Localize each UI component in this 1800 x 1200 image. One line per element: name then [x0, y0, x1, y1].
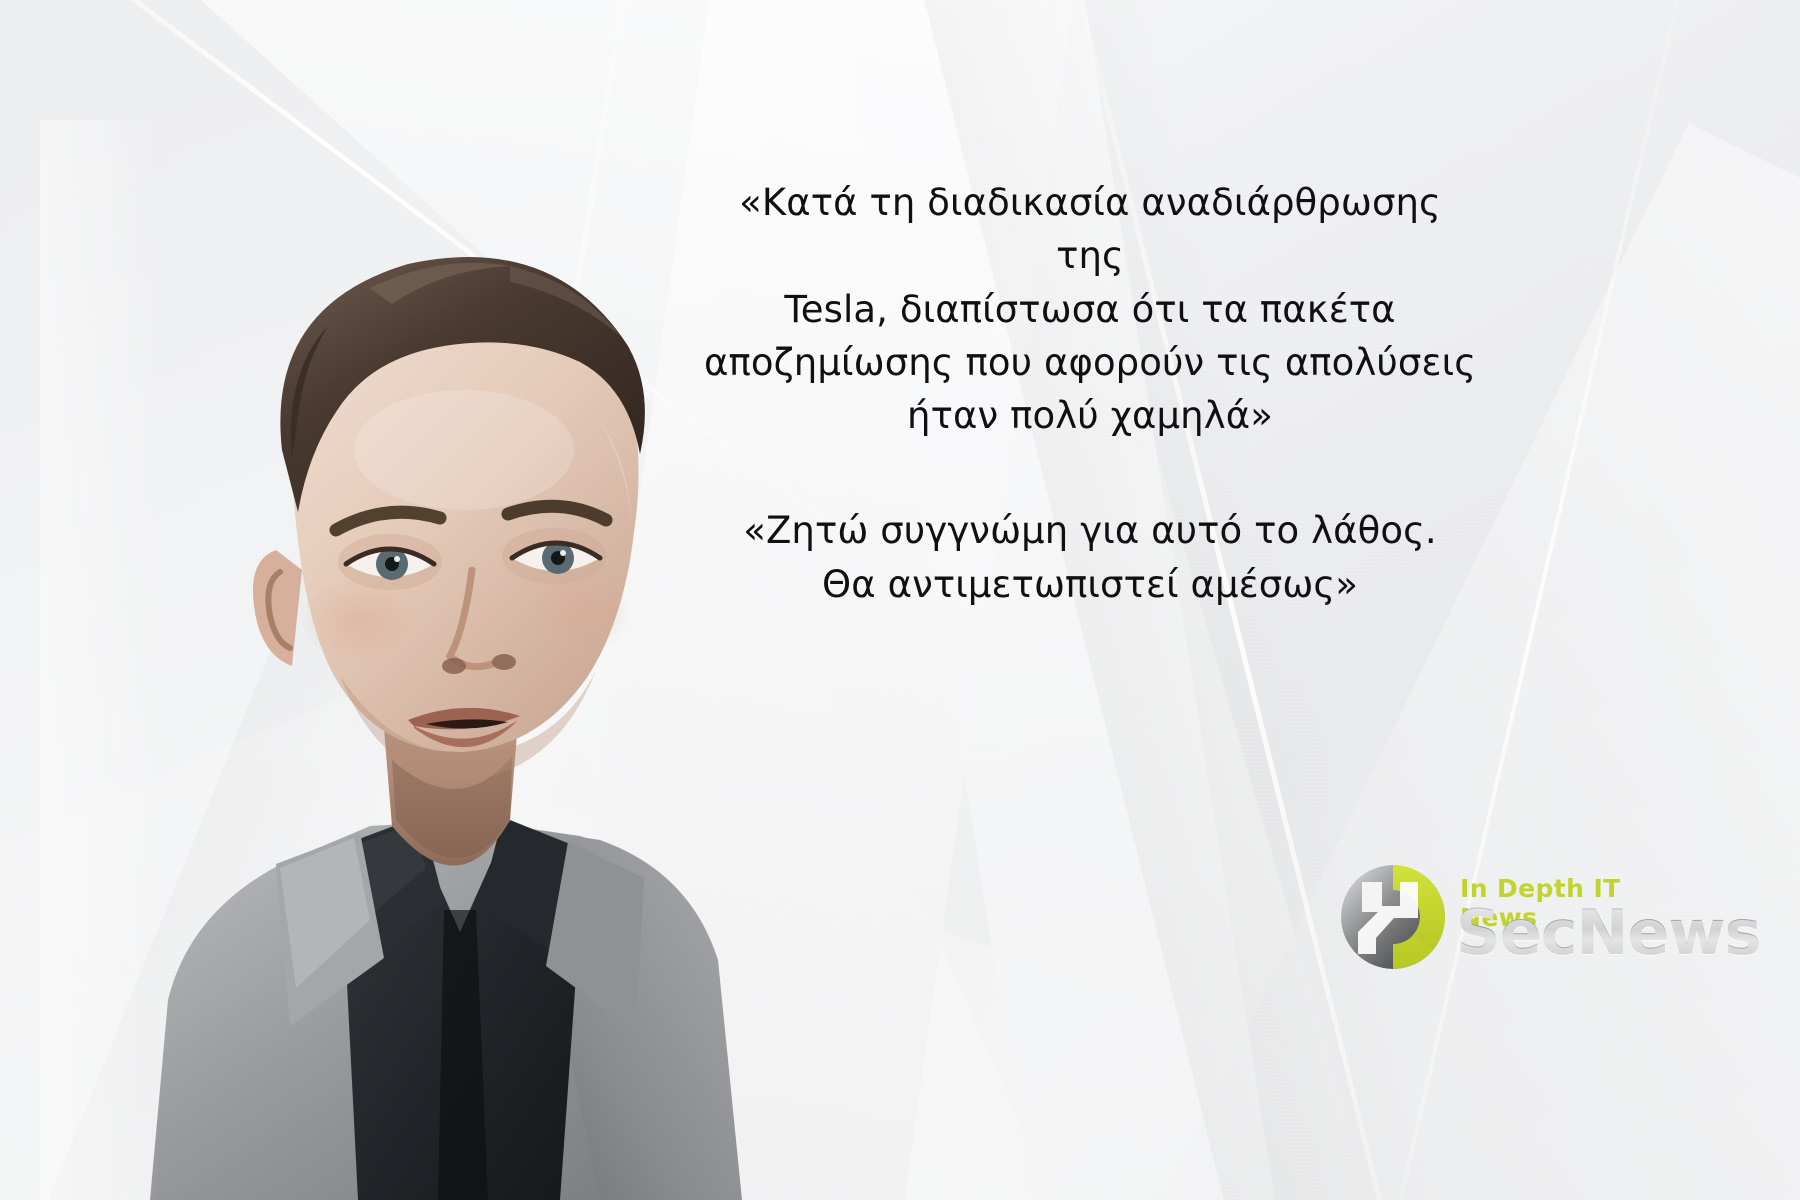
portrait-image: [40, 120, 800, 1200]
secnews-circle-icon: [1338, 862, 1448, 972]
quote-line: αποζημίωσης που αφορούν τις απολύσεις: [704, 341, 1476, 384]
quote-paragraph-2: «Ζητώ συγγνώμη για αυτό το λάθος. Θα αντ…: [700, 504, 1480, 611]
logo-wordmark: SecNews: [1456, 896, 1761, 969]
quote-line: «Κατά τη διαδικασία αναδιάρθρωσης της: [739, 181, 1441, 277]
quote-line: «Ζητώ συγγνώμη για αυτό το λάθος.: [743, 509, 1437, 552]
quote-line: Tesla, διαπίστωσα ότι τα πακέτα: [784, 288, 1395, 331]
quote-block: «Κατά τη διαδικασία αναδιάρθρωσης της Te…: [700, 176, 1480, 611]
quote-card-canvas: «Κατά τη διαδικασία αναδιάρθρωσης της Te…: [0, 0, 1800, 1200]
quote-line: ήταν πολύ χαμηλά»: [907, 394, 1273, 437]
secnews-logo[interactable]: In Depth IT News SecNews: [1338, 862, 1698, 980]
quote-line: Θα αντιμετωπιστεί αμέσως»: [822, 563, 1358, 606]
quote-paragraph-1: «Κατά τη διαδικασία αναδιάρθρωσης της Te…: [700, 176, 1480, 442]
quote-spacer: [700, 442, 1480, 504]
